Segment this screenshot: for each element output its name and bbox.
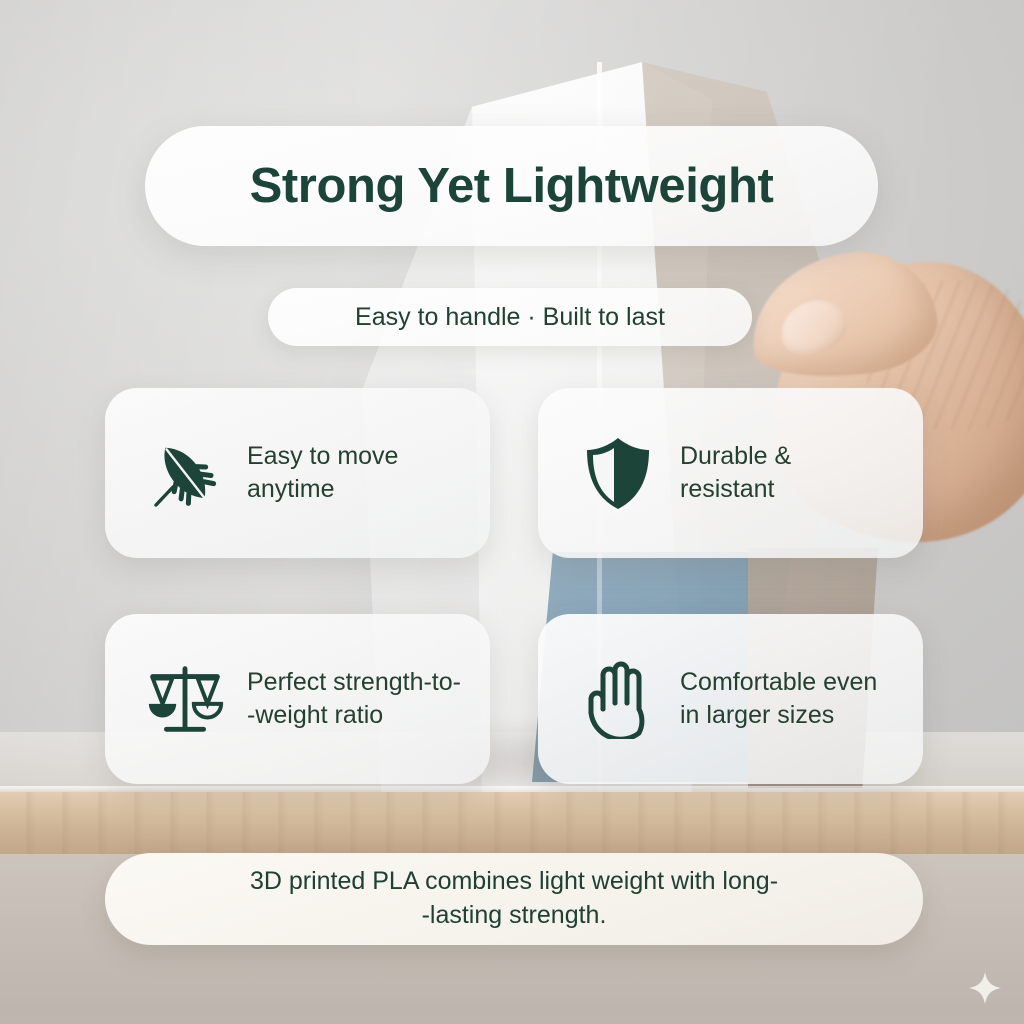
feature-card[interactable]: Easy to move anytime: [105, 388, 490, 558]
feature-label: Easy to move anytime: [247, 440, 398, 507]
feather-icon: [143, 431, 227, 515]
poster-canvas: Strong Yet Lightweight Easy to handle · …: [0, 0, 1024, 1024]
sparkle-icon: [968, 971, 1002, 1005]
page-title: Strong Yet Lightweight: [250, 158, 774, 214]
feature-card[interactable]: Perfect strength-to- -weight ratio: [105, 614, 490, 784]
footer-banner-text: 3D printed PLA combines light weight wit…: [190, 865, 838, 933]
title-pill: Strong Yet Lightweight: [145, 126, 878, 246]
wooden-shelf: [0, 792, 1024, 854]
feature-card[interactable]: Comfortable even in larger sizes: [538, 614, 923, 784]
feature-label: Comfortable even in larger sizes: [680, 666, 877, 733]
page-subtitle: Easy to handle · Built to last: [355, 303, 665, 332]
feature-label: Durable & resistant: [680, 440, 791, 507]
shield-icon: [576, 431, 660, 515]
feature-card-grid: Easy to move anytime Durable & resistant: [105, 388, 923, 784]
balance-scale-icon: [143, 657, 227, 741]
open-hand-icon: [576, 657, 660, 741]
footer-banner: 3D printed PLA combines light weight wit…: [105, 853, 923, 945]
feature-label: Perfect strength-to- -weight ratio: [247, 666, 461, 733]
feature-card[interactable]: Durable & resistant: [538, 388, 923, 558]
subtitle-pill: Easy to handle · Built to last: [268, 288, 752, 346]
